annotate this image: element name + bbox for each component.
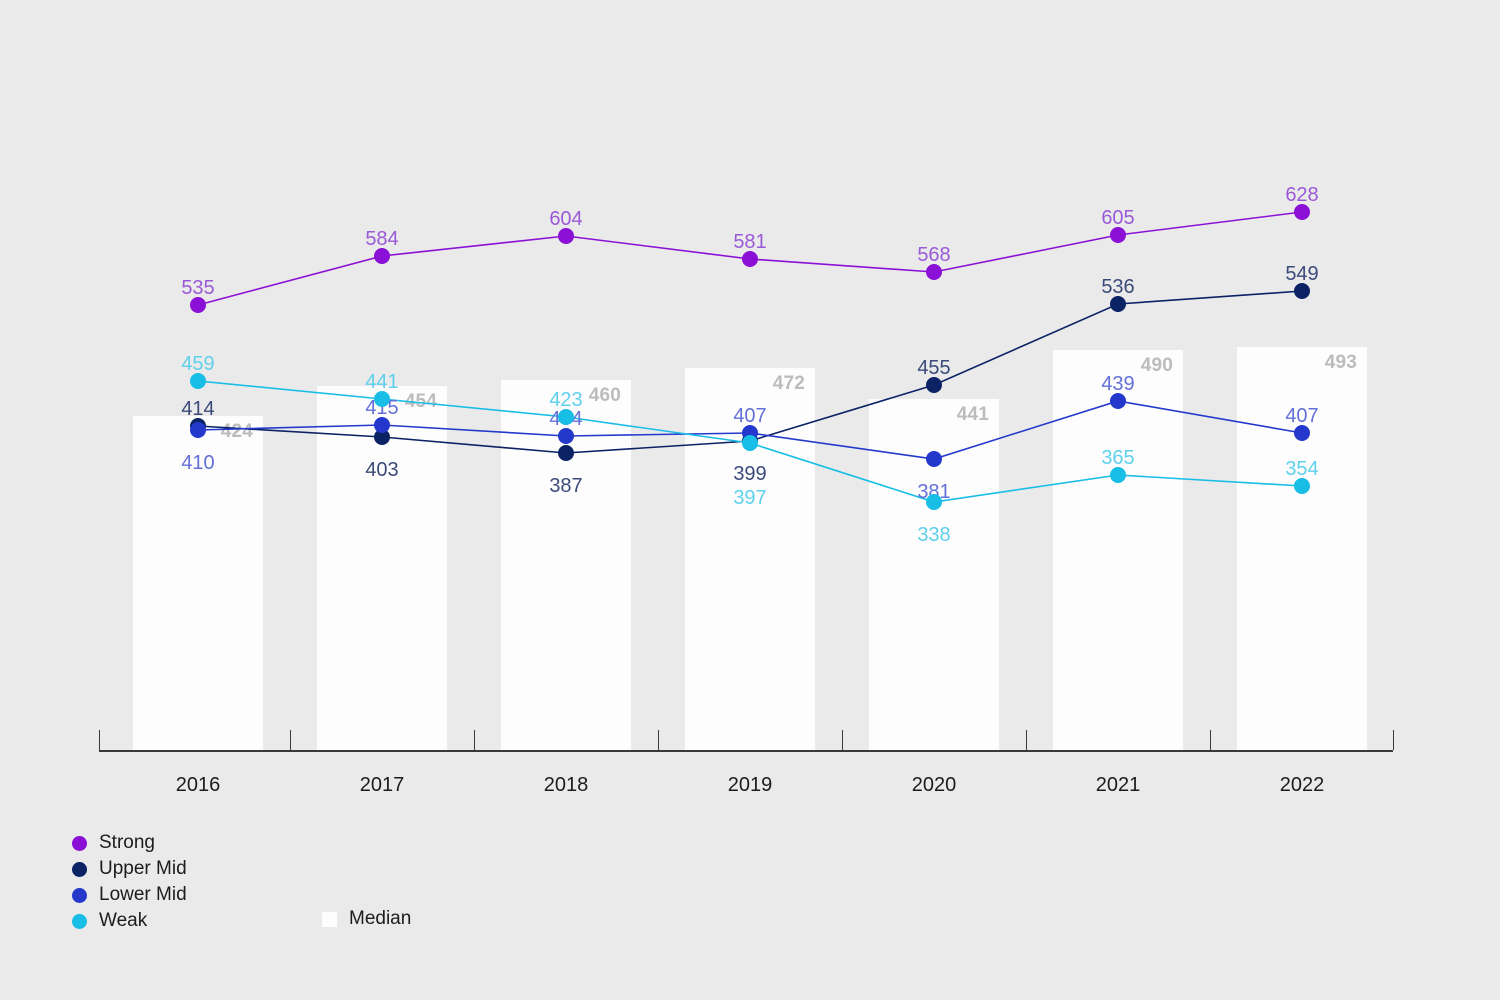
legend-item-label: Strong [99, 832, 155, 854]
x-axis: 2016201720182019202020212022 [0, 0, 1500, 1000]
legend-item-strong[interactable]: Strong [72, 830, 187, 856]
x-axis-line [99, 750, 1393, 752]
x-axis-tick [290, 730, 291, 750]
legend-swatch-icon [72, 914, 87, 929]
x-axis-tick [658, 730, 659, 750]
chart-legend: StrongUpper MidLower MidWeakMedian [72, 830, 187, 934]
x-axis-label: 2019 [690, 774, 810, 797]
x-axis-tick [474, 730, 475, 750]
legend-item-lower-mid[interactable]: Lower Mid [72, 882, 187, 908]
legend-swatch-icon [72, 888, 87, 903]
x-axis-tick [842, 730, 843, 750]
x-axis-tick [1026, 730, 1027, 750]
legend-item-label: Upper Mid [99, 858, 187, 880]
x-axis-tick [99, 730, 100, 750]
legend-item-label: Weak [99, 910, 147, 932]
legend-swatch-icon [72, 862, 87, 877]
legend-item-weak[interactable]: Weak [72, 908, 187, 934]
x-axis-label: 2018 [506, 774, 626, 797]
x-axis-label: 2017 [322, 774, 442, 797]
x-axis-tick [1210, 730, 1211, 750]
legend-median-swatch-icon [322, 912, 337, 927]
x-axis-label: 2021 [1058, 774, 1178, 797]
x-axis-label: 2016 [138, 774, 258, 797]
x-axis-label: 2020 [874, 774, 994, 797]
legend-median-label: Median [349, 908, 411, 930]
legend-item-upper-mid[interactable]: Upper Mid [72, 856, 187, 882]
legend-item-label: Lower Mid [99, 884, 187, 906]
line-chart: 424454460472441490493 535584604581568605… [0, 0, 1500, 1000]
x-axis-label: 2022 [1242, 774, 1362, 797]
legend-swatch-icon [72, 836, 87, 851]
legend-item-median[interactable]: Median [322, 908, 411, 930]
x-axis-tick [1393, 730, 1394, 750]
